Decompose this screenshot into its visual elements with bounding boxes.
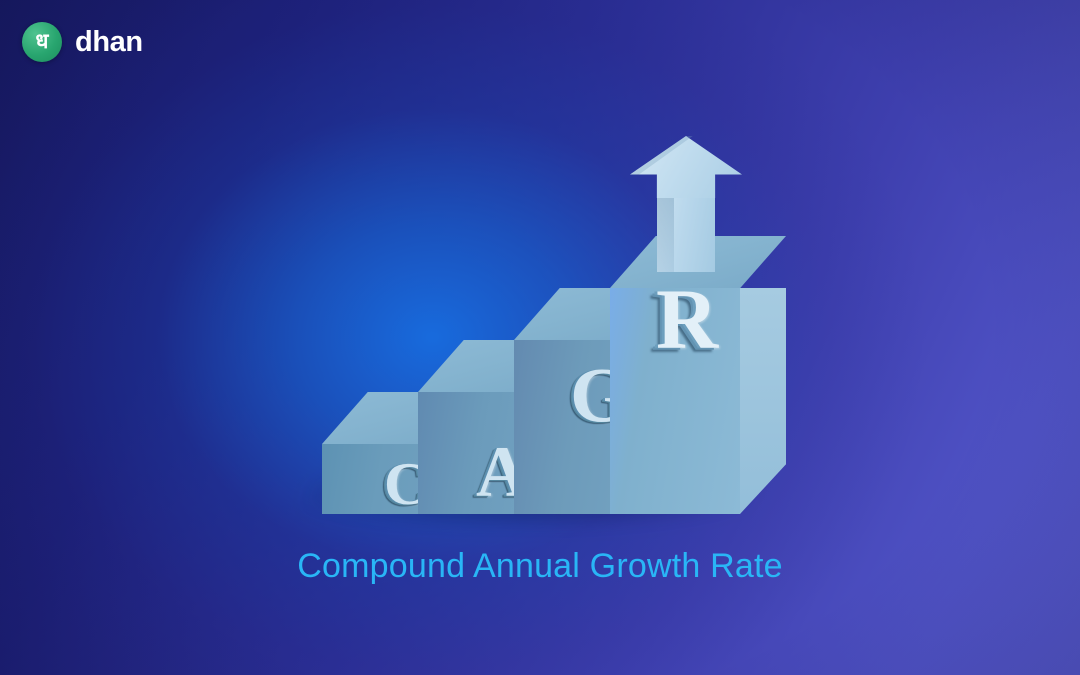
brand-logo[interactable]: ध dhan (22, 22, 143, 62)
bar-r-letter: R (656, 276, 718, 362)
poster-canvas: ध dhan C A G (0, 0, 1080, 675)
bar-r: R (610, 236, 786, 514)
arrow-up-icon (626, 136, 746, 266)
brand-name: dhan (75, 28, 143, 57)
dhan-logo-glyph: ध (36, 31, 49, 52)
arrow-shaft-shading (657, 192, 674, 272)
cagr-illustration: C A G R (300, 130, 780, 530)
page-title: Compound Annual Growth Rate (0, 547, 1080, 586)
bar-r-right-face (740, 288, 786, 514)
dhan-logo-icon: ध (22, 22, 62, 62)
